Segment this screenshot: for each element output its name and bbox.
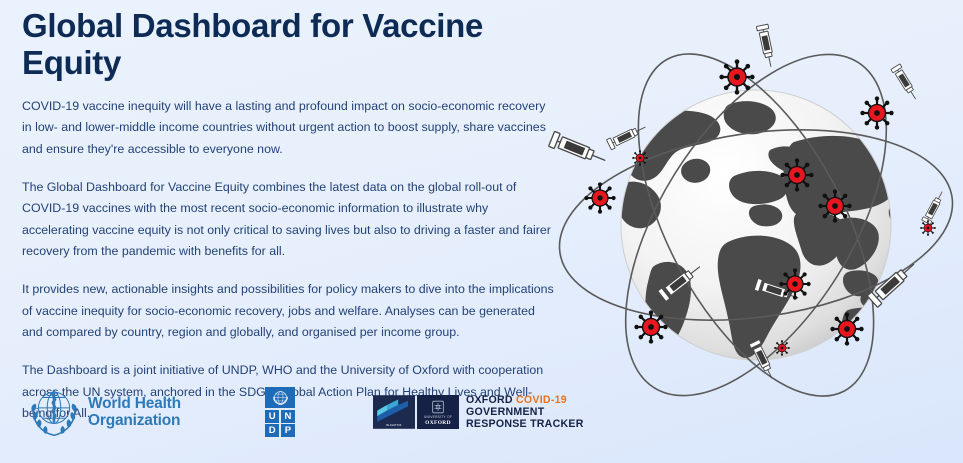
who-wordmark: World Health Organization — [88, 395, 181, 430]
globe-illustration — [548, 10, 963, 440]
intro-paragraph-3: It provides new, actionable insights and… — [22, 279, 556, 343]
oxford-tracker-line1-oxford: OXFORD — [466, 394, 516, 406]
svg-text:BLAVATNIK: BLAVATNIK — [386, 424, 401, 427]
partner-logos: World Health Organization — [28, 386, 584, 438]
undp-letter-n: N — [281, 410, 295, 423]
undp-letter-u: U — [265, 410, 279, 423]
who-emblem-icon — [28, 386, 80, 438]
virus-particle-icon — [780, 158, 813, 191]
blavatnik-school-of-government-icon: BLAVATNIK — [373, 395, 415, 429]
intro-paragraph-2: The Global Dashboard for Vaccine Equity … — [22, 177, 556, 262]
virus-particle-icon — [634, 310, 667, 343]
virus-particle-icon — [818, 189, 851, 222]
virus-particle-icon — [632, 150, 648, 166]
oxford-crest-sub: UNIVERSITY OF — [424, 415, 452, 419]
virus-particle-icon — [774, 340, 790, 356]
syringe-icon — [549, 131, 608, 167]
who-wordmark-line2: Organization — [88, 412, 180, 429]
oxford-tracker-line2: GOVERNMENT — [466, 406, 544, 418]
undp-mark: U N D P — [265, 387, 295, 437]
undp-letter-p: P — [281, 424, 295, 437]
syringe-icon — [607, 122, 648, 150]
virus-particle-icon — [584, 182, 615, 213]
intro-paragraph-1: COVID-19 vaccine inequity will have a la… — [22, 96, 556, 160]
virus-particle-icon — [860, 96, 893, 129]
virus-particle-icon — [920, 220, 936, 236]
oxford-crest-name: OXFORD — [425, 420, 451, 426]
syringe-icon — [756, 24, 776, 68]
logo-undp[interactable]: U N D P — [265, 387, 295, 437]
virus-particle-icon — [719, 59, 754, 94]
syringe-icon — [891, 64, 920, 102]
un-emblem-icon — [265, 387, 295, 408]
page-title: Global Dashboard for Vaccine Equity — [22, 8, 522, 82]
syringe-icon — [922, 190, 947, 225]
undp-letter-d: D — [265, 424, 279, 437]
who-wordmark-line1: World Health — [88, 395, 181, 412]
globe-icon — [619, 90, 905, 360]
intro-text-column: Global Dashboard for Vaccine Equity COVI… — [22, 8, 558, 441]
vaccine-equity-hero-page: Global Dashboard for Vaccine Equity COVI… — [0, 0, 963, 463]
virus-particle-icon — [779, 268, 810, 299]
undp-letter-grid: U N D P — [265, 410, 295, 438]
oxford-crest-icon: UNIVERSITY OF OXFORD — [417, 395, 459, 429]
logo-world-health-organization[interactable]: World Health Organization — [28, 386, 228, 438]
virus-particle-icon — [830, 312, 863, 345]
